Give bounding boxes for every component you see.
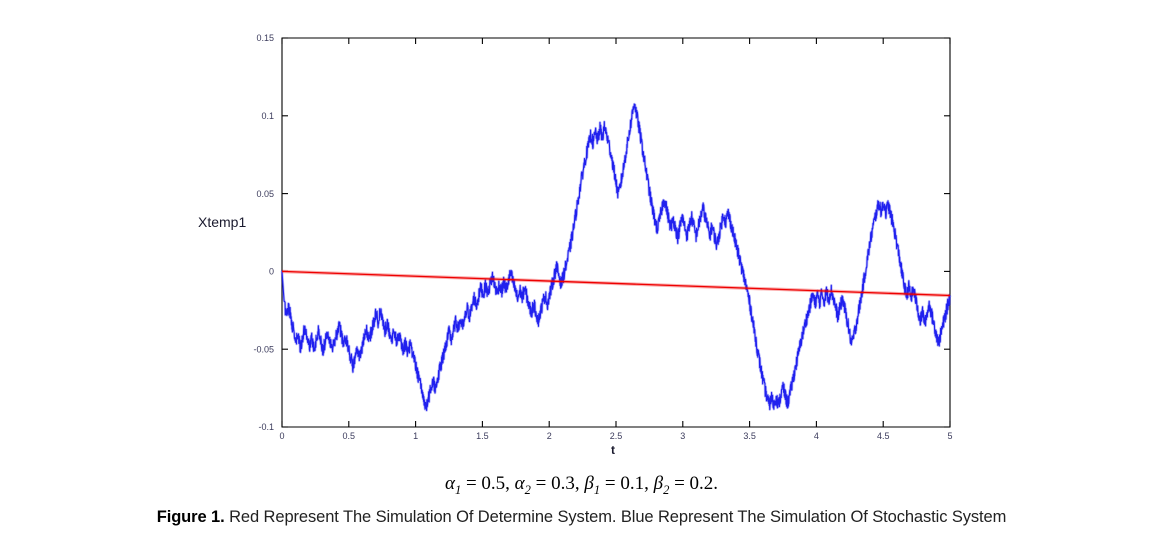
deterministic-line bbox=[282, 271, 950, 295]
beta1-symbol: β bbox=[584, 473, 593, 494]
x-tick-label: 4 bbox=[814, 431, 819, 441]
x-tick-label: 5 bbox=[947, 431, 952, 441]
figure-container: Xtemp1 t 00.511.522.533.544.55-0.1-0.050… bbox=[0, 0, 1163, 552]
figure-number: Figure 1. bbox=[157, 508, 225, 526]
x-tick-label: 3 bbox=[680, 431, 685, 441]
axis-frame bbox=[282, 38, 950, 427]
plot-area: Xtemp1 t 00.511.522.533.544.55-0.1-0.050… bbox=[0, 0, 1163, 470]
beta2-symbol: β bbox=[654, 473, 663, 494]
y-tick-label: 0.1 bbox=[261, 111, 274, 121]
y-tick-label: -0.1 bbox=[258, 422, 274, 432]
x-tick-label: 1 bbox=[413, 431, 418, 441]
x-tick-label: 0 bbox=[279, 431, 284, 441]
x-tick-label: 2 bbox=[547, 431, 552, 441]
parameters-caption: α1 = 0.5, α2 = 0.3, β1 = 0.1, β2 = 0.2. bbox=[0, 473, 1163, 498]
x-tick-label: 1.5 bbox=[476, 431, 489, 441]
alpha1-value: = 0.5, bbox=[461, 473, 510, 494]
alpha2-symbol: α bbox=[515, 473, 525, 494]
beta1-value: = 0.1, bbox=[600, 473, 649, 494]
y-tick-label: 0.05 bbox=[256, 189, 274, 199]
y-tick-label: -0.05 bbox=[253, 344, 274, 354]
x-tick-label: 4.5 bbox=[877, 431, 890, 441]
figure-caption: Figure 1. Red Represent The Simulation O… bbox=[0, 508, 1163, 527]
x-tick-label: 0.5 bbox=[343, 431, 356, 441]
alpha1-symbol: α bbox=[445, 473, 455, 494]
stochastic-curve bbox=[282, 104, 950, 410]
figure-caption-text: Red Represent The Simulation Of Determin… bbox=[225, 508, 1007, 526]
x-tick-label: 3.5 bbox=[743, 431, 756, 441]
x-tick-label: 2.5 bbox=[610, 431, 623, 441]
alpha2-value: = 0.3, bbox=[531, 473, 580, 494]
line-chart: 00.511.522.533.544.55-0.1-0.0500.050.10.… bbox=[0, 0, 1163, 470]
y-tick-label: 0 bbox=[269, 267, 274, 277]
y-tick-label: 0.15 bbox=[256, 33, 274, 43]
beta2-value: = 0.2. bbox=[669, 473, 718, 494]
stochastic-curve-halo bbox=[282, 104, 950, 410]
